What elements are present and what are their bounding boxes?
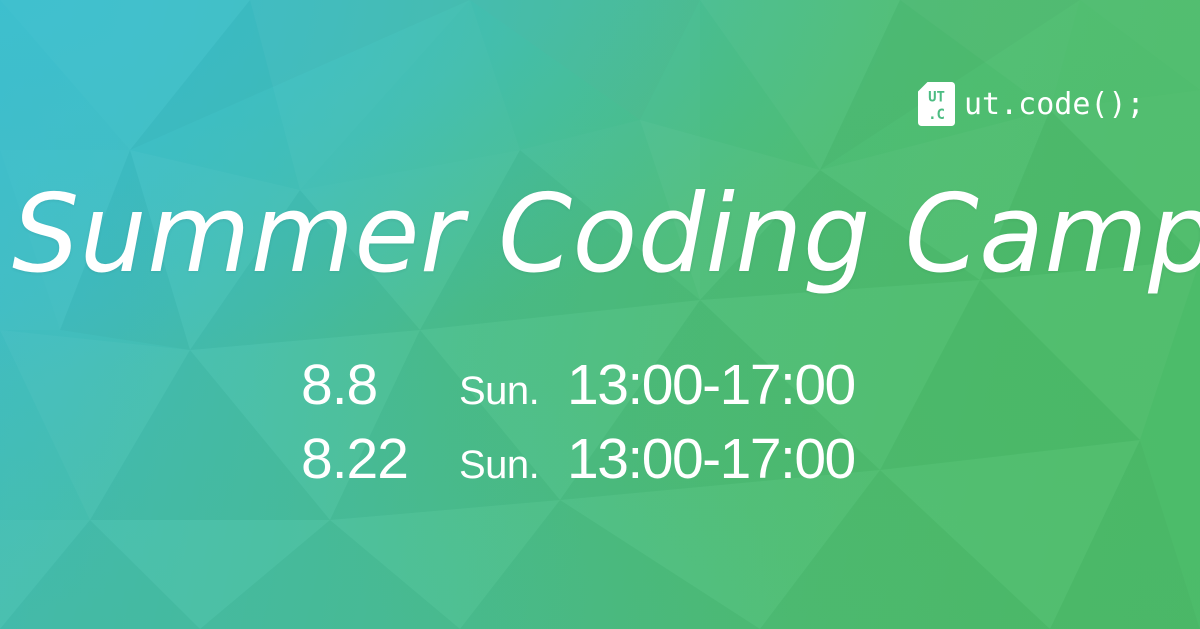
schedule-date: 8.22 [301,431,459,488]
schedule-row: 8.22 Sun. 13:00-17:00 [301,431,855,505]
brand-lockup: UT .C ut.code(); [918,82,1145,126]
schedule-weekday: Sun. [459,445,567,485]
schedule-date: 8.8 [301,357,459,414]
slide-canvas: UT .C ut.code(); Summer Coding Camp 8.8 … [0,0,1200,629]
schedule-list: 8.8 Sun. 13:00-17:00 8.22 Sun. 13:00-17:… [301,357,855,505]
schedule-time: 13:00-17:00 [567,431,855,488]
page-title: Summer Coding Camp [12,181,1188,289]
schedule-weekday: Sun. [459,371,567,411]
schedule-time: 13:00-17:00 [567,357,855,414]
svg-text:UT: UT [928,90,945,106]
svg-text:.C: .C [928,107,945,123]
schedule-row: 8.8 Sun. 13:00-17:00 [301,357,855,431]
utcode-logo-icon: UT .C [918,82,955,126]
brand-wordmark: ut.code(); [964,90,1145,120]
